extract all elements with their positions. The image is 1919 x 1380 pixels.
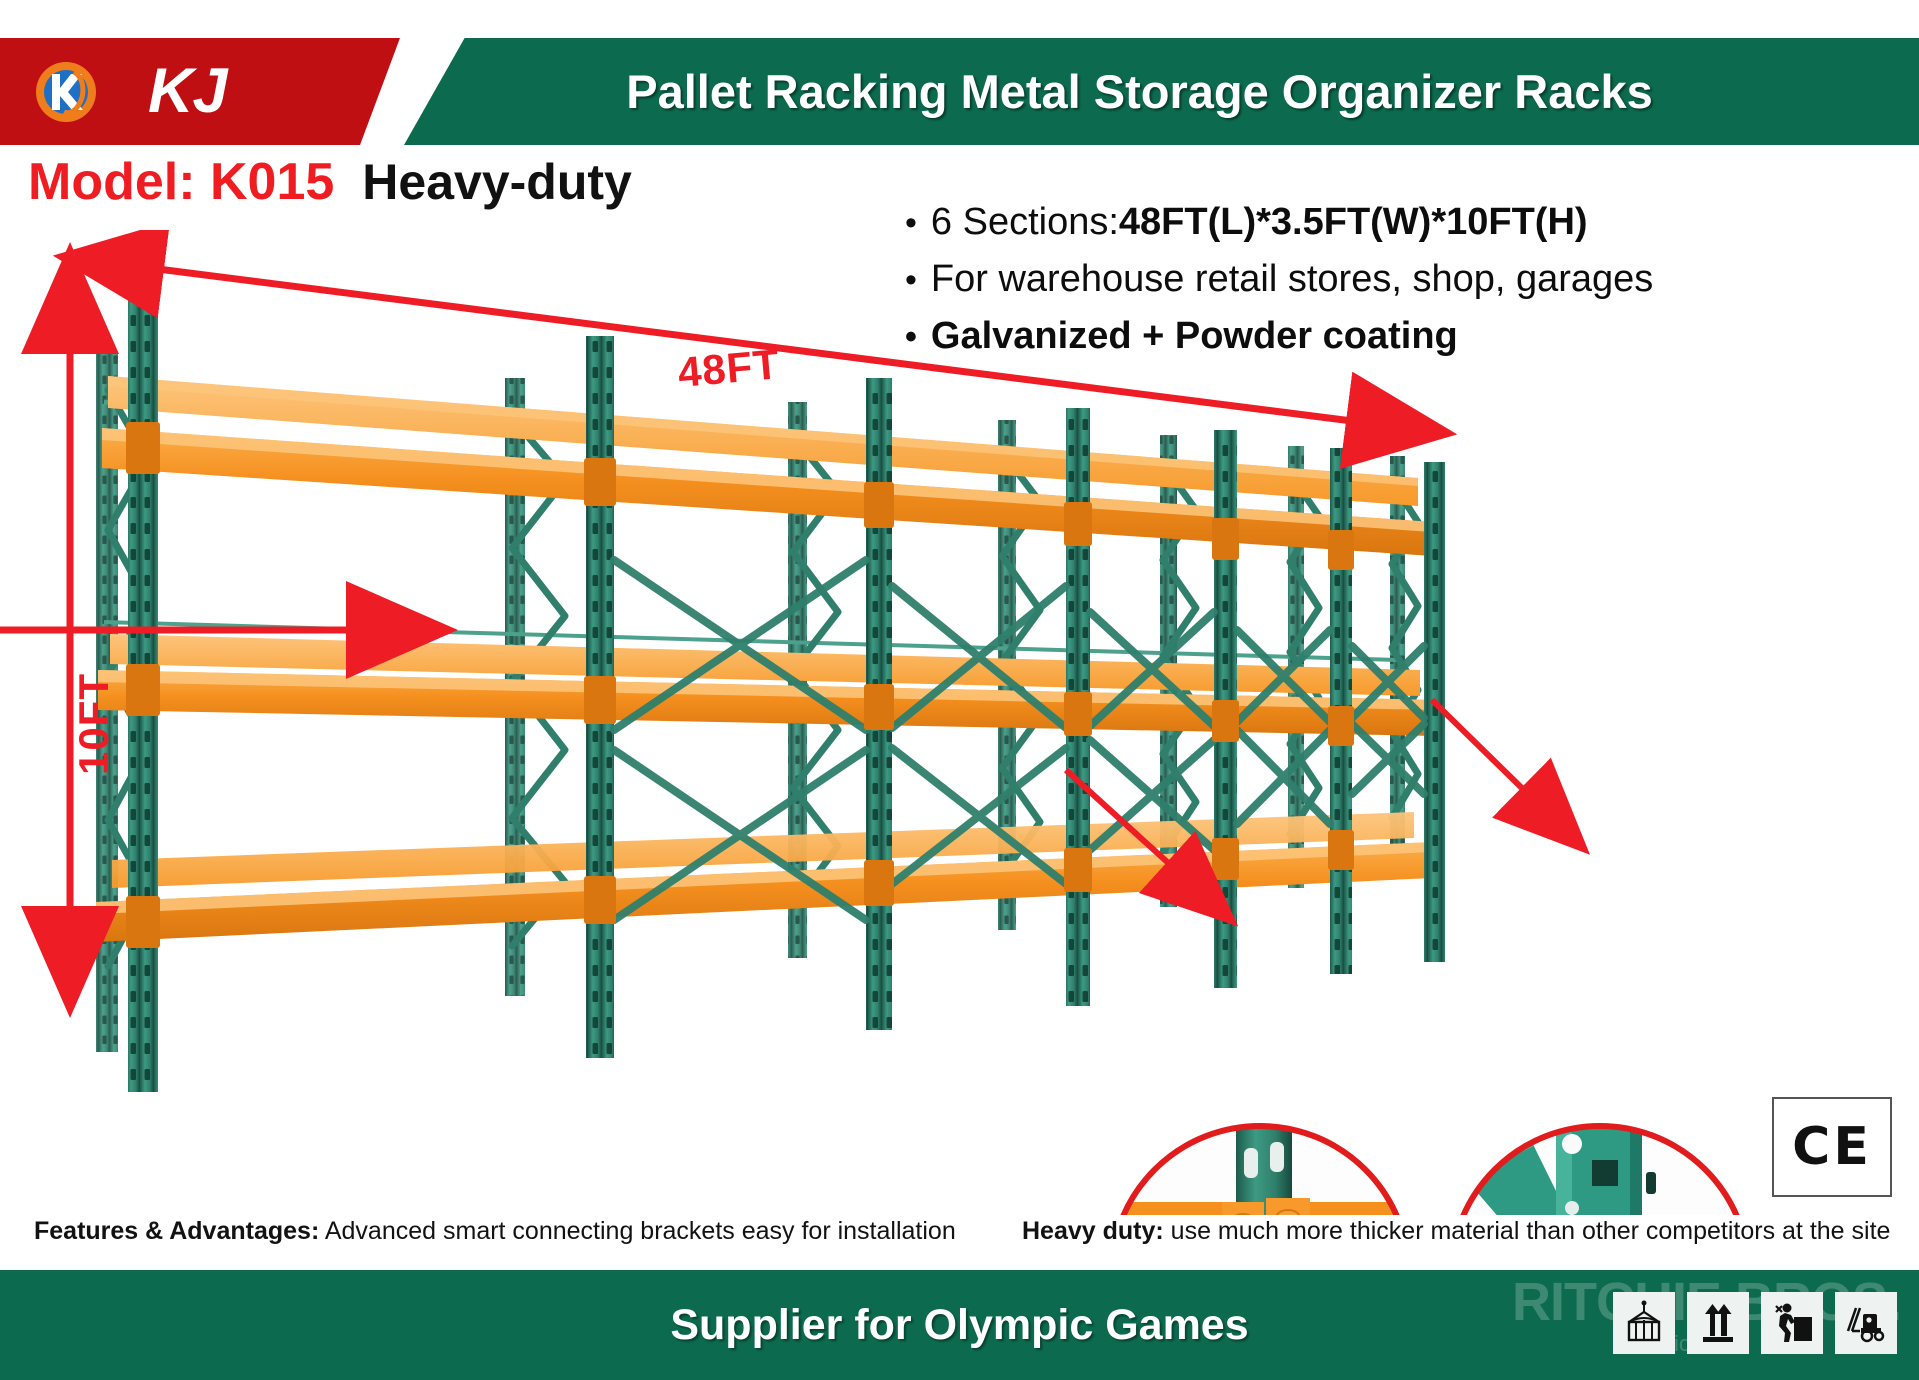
page-title: Pallet Racking Metal Storage Organizer R… — [0, 38, 1919, 145]
page-footer: RITCHIE BROS. Auctioneers Supplier for O… — [0, 1270, 1919, 1380]
dimension-label-length: 48FT — [676, 340, 782, 397]
features-caption-label: Features & Advantages: — [34, 1217, 319, 1245]
ce-mark-badge: CE — [1772, 1097, 1892, 1197]
model-line: Model: K015 Heavy-duty — [28, 152, 632, 210]
rack-perspective-svg — [0, 230, 1919, 1215]
no-stepping-icon — [1761, 1292, 1823, 1354]
features-caption-text: Advanced smart connecting brackets easy … — [319, 1217, 955, 1245]
fragile-crate-icon — [1613, 1292, 1675, 1354]
heavyduty-caption: Heavy duty: use much more thicker materi… — [1022, 1211, 1890, 1251]
model-variant: Heavy-duty — [362, 153, 632, 211]
heavyduty-caption-text: use much more thicker material than othe… — [1164, 1217, 1891, 1245]
model-code: Model: K015 — [28, 152, 334, 212]
features-caption: Features & Advantages: Advanced smart co… — [34, 1211, 956, 1251]
forklift-icon — [1835, 1292, 1897, 1354]
bracket-detail-callout — [1111, 1126, 1412, 1215]
pallet-rack-illustration — [0, 230, 1919, 1215]
page-header: KJ Pallet Racking Metal Storage Organize… — [0, 38, 1919, 145]
caption-row: Features & Advantages: Advanced smart co… — [0, 1211, 1919, 1263]
heavyduty-caption-label: Heavy duty: — [1022, 1217, 1164, 1245]
dimension-label-height: 10FT — [70, 634, 118, 814]
this-way-up-icon — [1687, 1292, 1749, 1354]
dimension-height-10ft — [0, 338, 360, 920]
upright-detail-callout — [1451, 1126, 1749, 1215]
ce-mark-label: CE — [1792, 1117, 1872, 1177]
shipping-icon-row — [1613, 1292, 1897, 1354]
